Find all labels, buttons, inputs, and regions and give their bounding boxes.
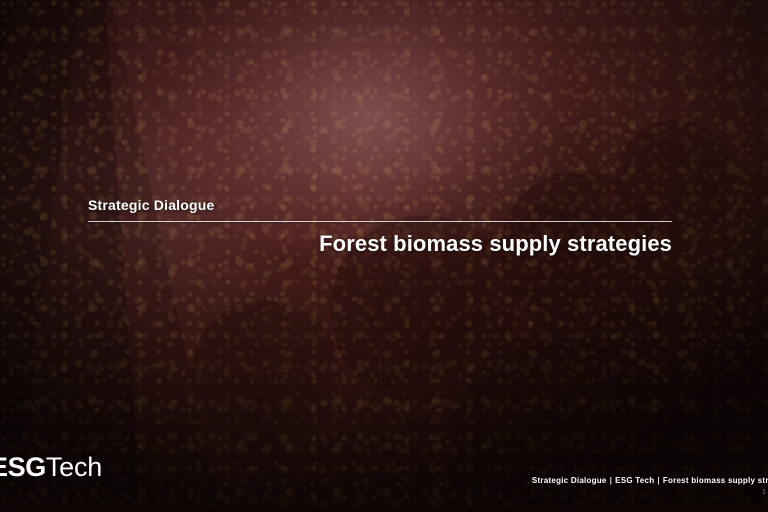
footer-part-event: Strategic Dialogue [532, 476, 607, 485]
title-divider-rule [88, 221, 672, 222]
page-number: 1 [762, 489, 766, 496]
footer-separator: | [654, 476, 663, 485]
footer-separator: | [607, 476, 616, 485]
slide-footer: Strategic Dialogue|ESG Tech|Forest bioma… [532, 476, 768, 485]
title-block: Strategic Dialogue Forest biomass supply… [88, 196, 672, 258]
title-slide: Strategic Dialogue Forest biomass supply… [0, 0, 768, 512]
footer-part-brand: ESG Tech [615, 476, 654, 485]
esgtech-logo: ESGTech [0, 452, 102, 482]
bottom-edge-strip [0, 505, 768, 512]
logo-suffix-text: Tech [46, 452, 102, 482]
footer-part-title: Forest biomass supply strategies [663, 476, 768, 485]
logo-mark-text: ESG [0, 452, 46, 482]
eyebrow-label: Strategic Dialogue [88, 196, 672, 214]
page-title: Forest biomass supply strategies [88, 230, 672, 258]
